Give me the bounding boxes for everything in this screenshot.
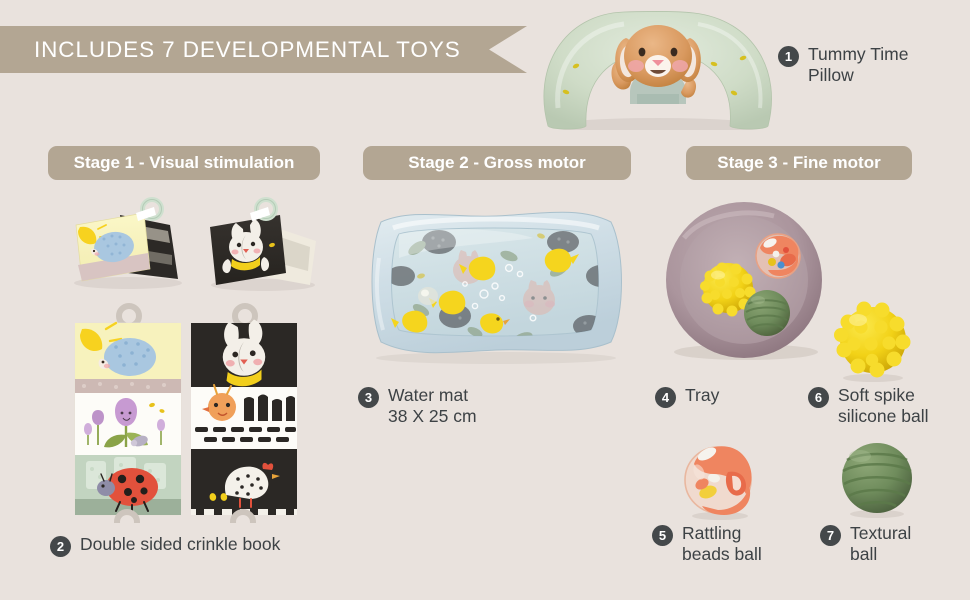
tray-with-balls-image [662,200,827,365]
header-ribbon: INCLUDES 7 DEVELOPMENTAL TOYS [0,26,527,73]
tummy-time-pillow-image [538,8,778,130]
item-caption-2: 2 Double sided crinkle book [50,534,280,557]
item-label: Double sided crinkle book [80,534,280,555]
item-label: Soft spike silicone ball [838,385,928,428]
item-caption-6: 6 Soft spike silicone ball [808,385,928,428]
item-caption-7: 7 Textural ball [820,523,911,566]
textural-ball-image [838,440,916,518]
item-number-badge: 4 [655,387,676,408]
item-caption-4: 4 Tray [655,385,719,408]
item-number-badge: 1 [778,46,799,67]
ribbon-title: INCLUDES 7 DEVELOPMENTAL TOYS [0,37,461,63]
item-caption-1: 1 Tummy Time Pillow [778,44,908,87]
item-caption-5: 5 Rattling beads ball [652,523,762,566]
item-number-badge: 3 [358,387,379,408]
stage-chip-2: Stage 2 - Gross motor [363,146,631,180]
stage-chip-3: Stage 3 - Fine motor [686,146,912,180]
crinkle-book-image [58,193,348,523]
stage-chip-1: Stage 1 - Visual stimulation [48,146,320,180]
rattling-beads-ball-image [680,440,760,520]
item-label: Tummy Time Pillow [808,44,908,87]
item-number-badge: 7 [820,525,841,546]
item-label: Tray [685,385,719,406]
item-label: Textural ball [850,523,911,566]
item-caption-3: 3 Water mat 38 X 25 cm [358,385,477,428]
item-label: Rattling beads ball [682,523,762,566]
water-mat-image [363,198,630,365]
item-number-badge: 2 [50,536,71,557]
item-number-badge: 6 [808,387,829,408]
item-number-badge: 5 [652,525,673,546]
item-label: Water mat 38 X 25 cm [388,385,477,428]
soft-spike-silicone-ball-image [832,300,914,382]
